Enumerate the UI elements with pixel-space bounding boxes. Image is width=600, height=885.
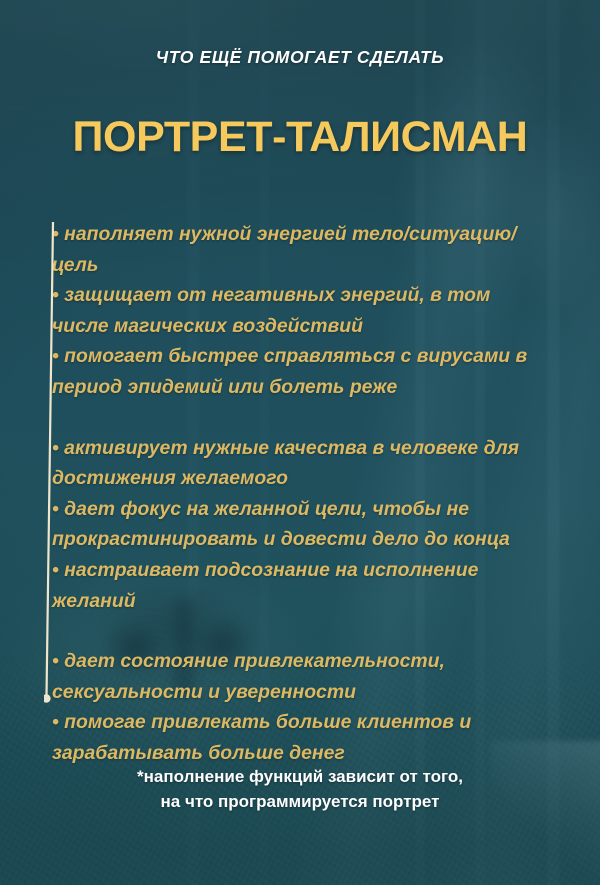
benefits-block-2: • активирует нужные качества в человеке … bbox=[52, 433, 552, 617]
list-item: • наполняет нужной энергией тело/ситуаци… bbox=[52, 219, 552, 280]
footnote-line-1: *наполнение функций зависит от того, bbox=[0, 764, 600, 789]
benefits-list: • наполняет нужной энергией тело/ситуаци… bbox=[52, 219, 552, 769]
list-item: • защищает от негативных энергий, в том … bbox=[52, 280, 552, 341]
vertical-accent-line bbox=[44, 222, 54, 700]
poster-content: ЧТО ЕЩЁ ПОМОГАЕТ СДЕЛАТЬ ПОРТРЕТ-ТАЛИСМА… bbox=[0, 0, 600, 885]
poster-root: ЧТО ЕЩЁ ПОМОГАЕТ СДЕЛАТЬ ПОРТРЕТ-ТАЛИСМА… bbox=[0, 0, 600, 885]
benefits-block-1: • наполняет нужной энергией тело/ситуаци… bbox=[52, 219, 552, 403]
page-title: ПОРТРЕТ-ТАЛИСМАН bbox=[0, 113, 600, 162]
footnote: *наполнение функций зависит от того, на … bbox=[0, 764, 600, 814]
list-item: • настраивает подсознание на исполнение … bbox=[52, 555, 552, 616]
benefits-block-3: • дает состояние привлекательности, секс… bbox=[52, 646, 552, 768]
list-item: • помогает быстрее справляться с вирусам… bbox=[52, 341, 552, 402]
list-item: • активирует нужные качества в человеке … bbox=[52, 433, 552, 494]
list-item: • помогае привлекать больше клиентов и з… bbox=[52, 707, 552, 768]
footnote-line-2: на что программируется портрет bbox=[0, 789, 600, 814]
kicker-text: ЧТО ЕЩЁ ПОМОГАЕТ СДЕЛАТЬ bbox=[0, 47, 600, 68]
list-item: • дает фокус на желанной цели, чтобы не … bbox=[52, 494, 552, 555]
list-item: • дает состояние привлекательности, секс… bbox=[52, 646, 552, 707]
